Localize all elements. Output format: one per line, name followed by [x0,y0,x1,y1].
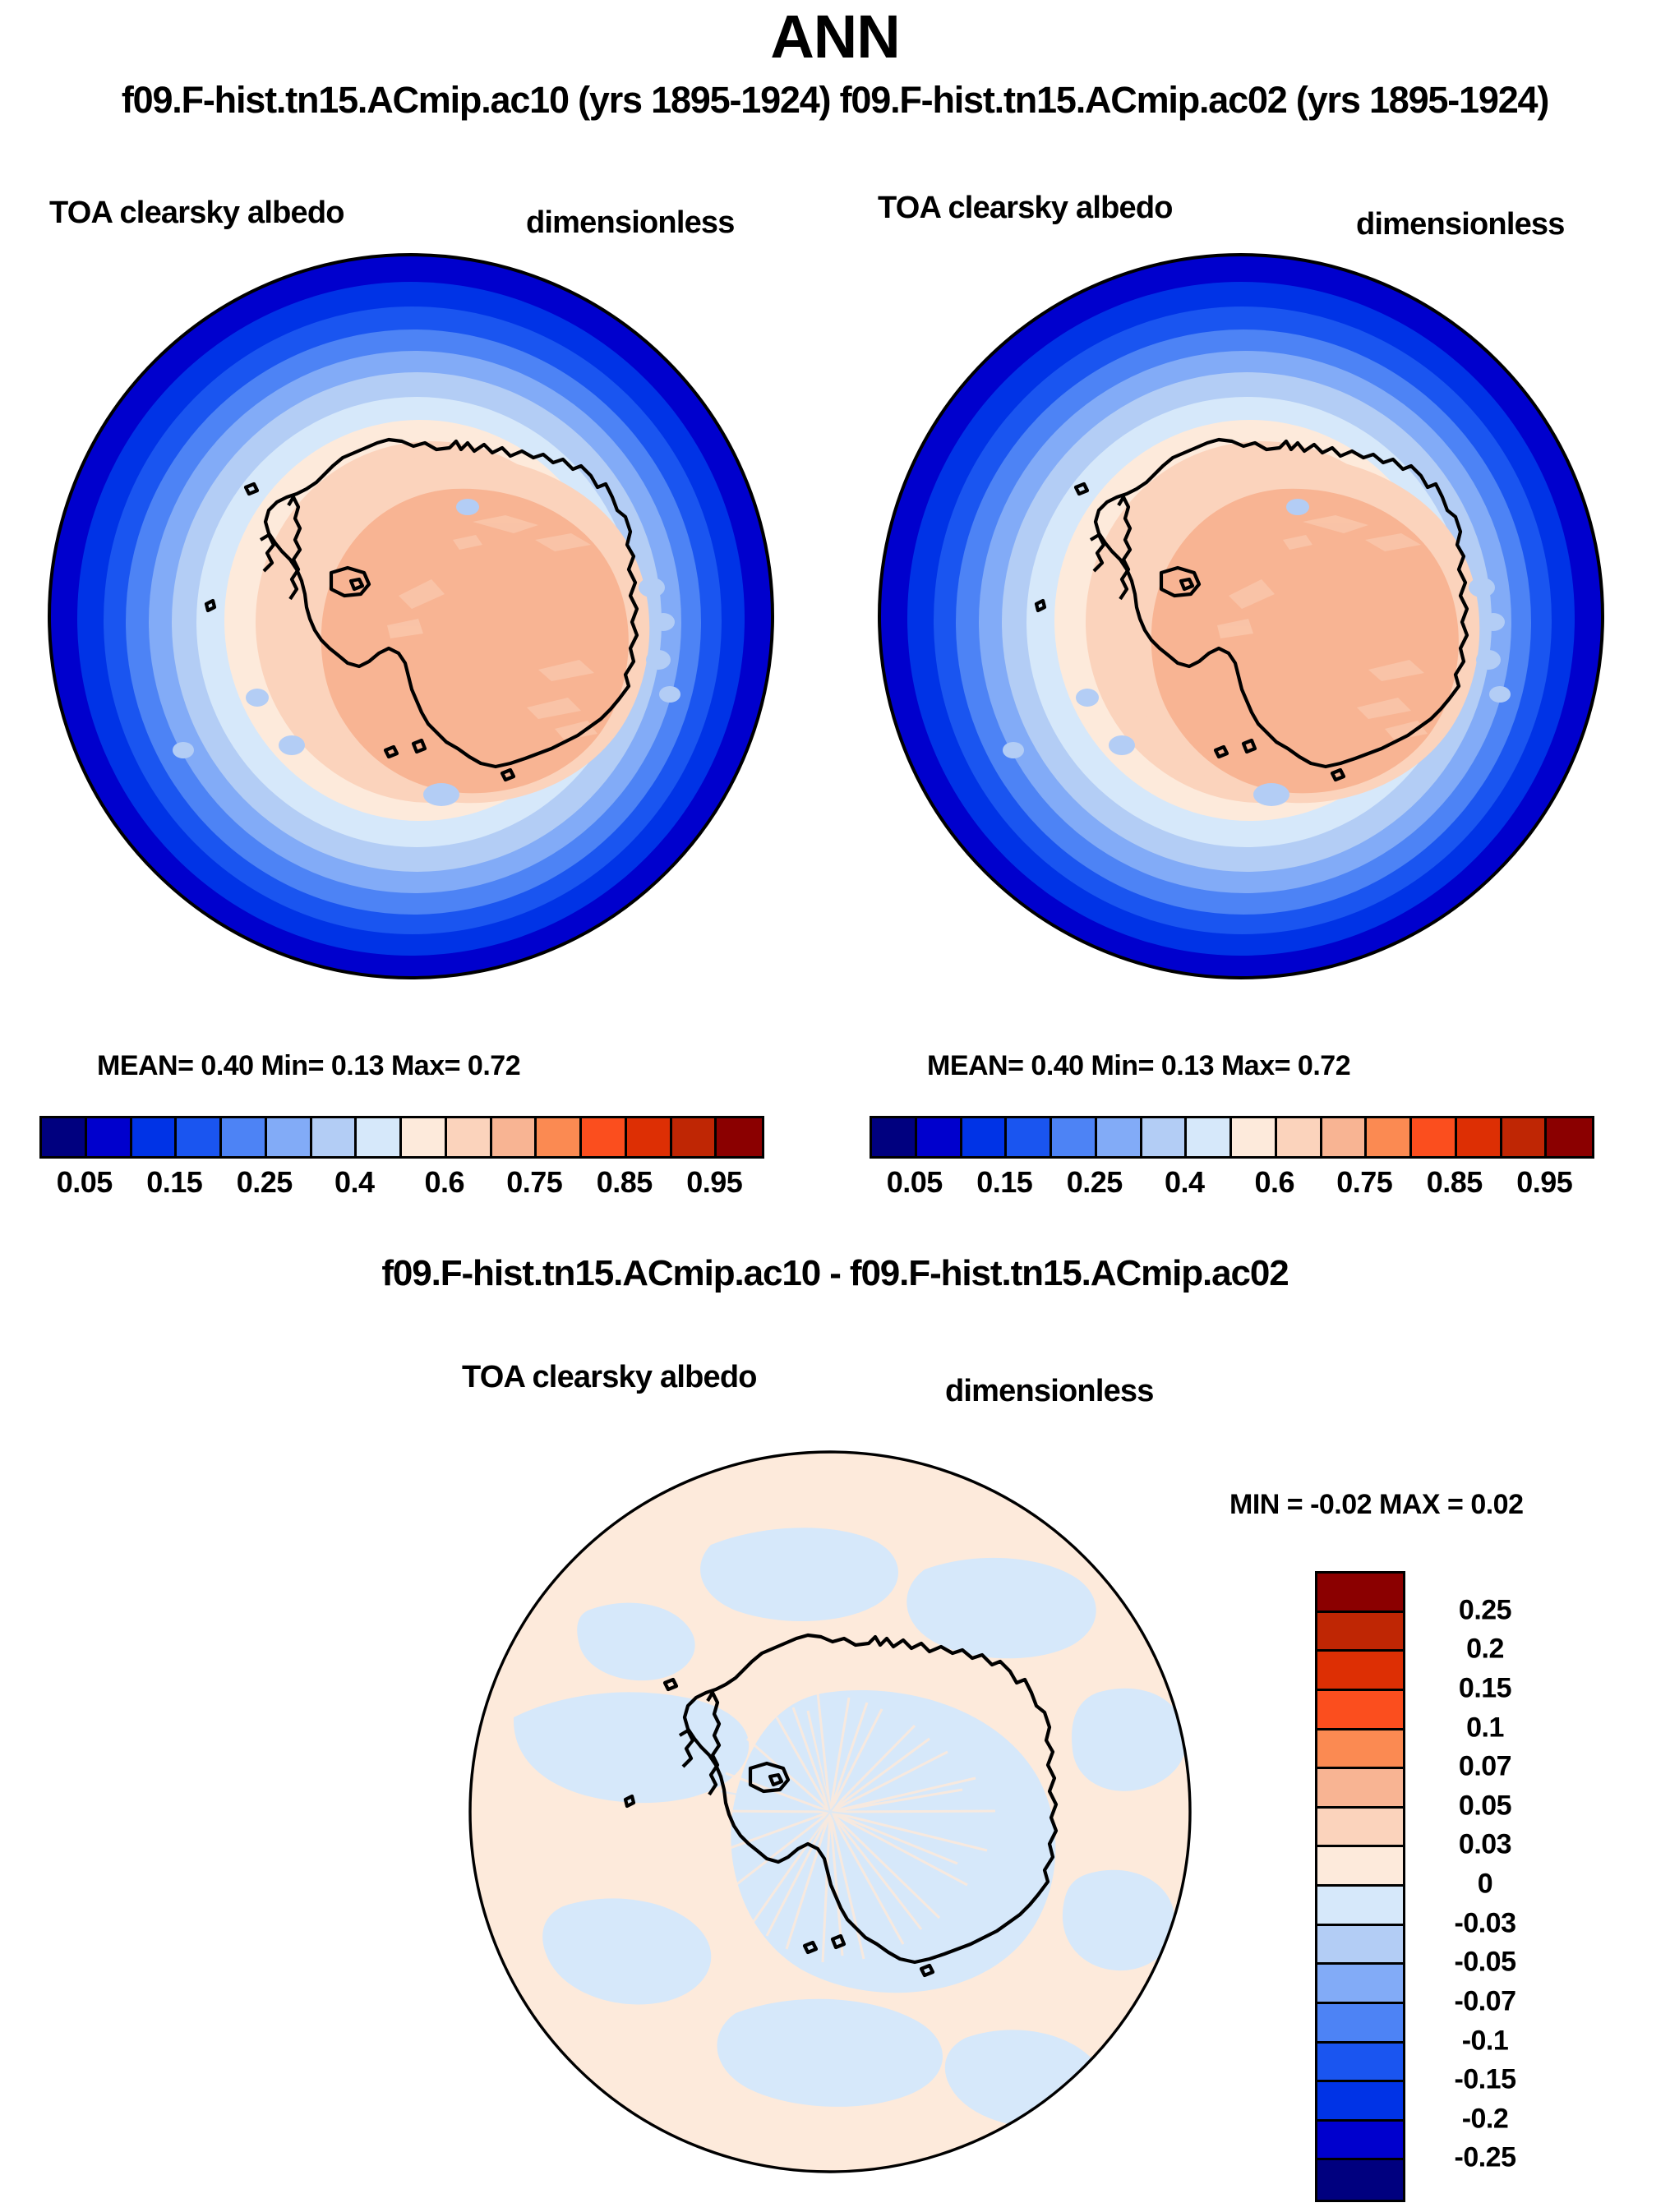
diff-colorbar-cell-12 [1317,2044,1403,2083]
colorbar-tick-4: 0.6 [1254,1165,1294,1200]
diff-colorbar-tick-7: 0 [1415,1869,1555,1901]
diff-colorbar-tick-0: 0.25 [1415,1594,1555,1626]
colorbar-tick-4: 0.6 [424,1165,464,1200]
colorbar-tick-7: 0.95 [1516,1165,1572,1200]
diff-colorbar-cell-7 [1317,1847,1403,1887]
diff-colorbar-tick-9: -0.05 [1415,1947,1555,1979]
left-panel-stats: MEAN= 0.40 Min= 0.13 Max= 0.72 [97,1050,520,1082]
colorbar-tick-3: 0.4 [334,1165,375,1200]
diff-colorbar-cell-9 [1317,1926,1403,1965]
diff-colorbar-cell-10 [1317,1965,1403,2004]
diff-colorbar-tick-6: 0.03 [1415,1829,1555,1861]
colorbar-cell-4 [222,1118,267,1156]
left-colorbar[interactable] [39,1116,764,1159]
colorbar-cell-11 [537,1118,582,1156]
diff-colorbar-cell-8 [1317,1887,1403,1926]
colorbar-tick-1: 0.15 [146,1165,202,1200]
diff-panel-variable-label: TOA clearsky albedo [462,1360,757,1395]
contour-band-0-70 [1151,489,1459,794]
diff-colorbar-tick-11: -0.1 [1415,2025,1555,2057]
colorbar-cell-9 [447,1118,492,1156]
colorbar-cell-8 [1232,1118,1277,1156]
colorbar-cell-2 [132,1118,178,1156]
colorbar-cell-0 [42,1118,87,1156]
colorbar-tick-0: 0.05 [57,1165,113,1200]
diff-panel-title: f09.F-hist.tn15.ACmip.ac10 - f09.F-hist.… [0,1253,1670,1294]
colorbar-tick-5: 0.75 [506,1165,562,1200]
colorbar-tick-3: 0.4 [1165,1165,1205,1200]
colorbar-cell-3 [1007,1118,1052,1156]
colorbar-tick-6: 0.85 [1427,1165,1483,1200]
right-colorbar[interactable] [870,1116,1594,1159]
colorbar-cell-13 [627,1118,672,1156]
diff-colorbar-ticks: 0.250.20.150.10.070.050.030-0.03-0.05-0.… [1415,1571,1629,2197]
colorbar-cell-14 [672,1118,717,1156]
diff-colorbar-tick-10: -0.07 [1415,1985,1555,2017]
colorbar-cell-6 [312,1118,358,1156]
colorbar-tick-2: 0.25 [237,1165,293,1200]
colorbar-cell-11 [1367,1118,1412,1156]
colorbar-cell-1 [917,1118,962,1156]
colorbar-cell-3 [177,1118,222,1156]
right-panel-stats: MEAN= 0.40 Min= 0.13 Max= 0.72 [927,1050,1350,1082]
diff-colorbar-cell-0 [1317,1574,1403,1613]
diff-colorbar-tick-5: 0.05 [1415,1790,1555,1822]
diff-colorbar-cell-1 [1317,1613,1403,1652]
left-panel-units-label: dimensionless [526,205,735,241]
colorbar-cell-5 [267,1118,312,1156]
diff-colorbar-tick-4: 0.07 [1415,1751,1555,1783]
right-polar-map[interactable] [875,251,1607,982]
diff-colorbar-cell-3 [1317,1691,1403,1730]
colorbar-cell-15 [717,1118,762,1156]
colorbar-tick-1: 0.15 [976,1165,1032,1200]
right-panel-units-label: dimensionless [1356,207,1565,242]
diff-colorbar-tick-12: -0.15 [1415,2064,1555,2096]
contour-band-0-70 [321,489,629,794]
colorbar-cell-5 [1097,1118,1142,1156]
colorbar-cell-15 [1547,1118,1592,1156]
diff-colorbar-cell-15 [1317,2160,1403,2200]
diff-colorbar-tick-2: 0.15 [1415,1672,1555,1704]
diff-colorbar-tick-3: 0.1 [1415,1712,1555,1744]
colorbar-cell-6 [1142,1118,1188,1156]
diff-colorbar-tick-13: -0.2 [1415,2103,1555,2135]
colorbar-cell-10 [1322,1118,1368,1156]
colorbar-cell-0 [872,1118,917,1156]
diff-colorbar-tick-8: -0.03 [1415,1907,1555,1939]
case-subtitle: f09.F-hist.tn15.ACmip.ac10 (yrs 1895-192… [0,79,1670,122]
page-title: ANN [0,2,1670,71]
colorbar-cell-12 [1412,1118,1457,1156]
diff-panel-stats: MIN = -0.02 MAX = 0.02 [1229,1489,1524,1521]
diff-colorbar-cell-6 [1317,1809,1403,1848]
colorbar-tick-5: 0.75 [1336,1165,1392,1200]
diff-polar-map[interactable] [464,1446,1196,2177]
diff-colorbar-tick-14: -0.25 [1415,2142,1555,2174]
colorbar-cell-9 [1277,1118,1322,1156]
colorbar-tick-6: 0.85 [597,1165,653,1200]
colorbar-cell-7 [1187,1118,1232,1156]
colorbar-cell-8 [402,1118,447,1156]
diff-colorbar-cell-13 [1317,2082,1403,2122]
colorbar-cell-14 [1502,1118,1548,1156]
colorbar-tick-0: 0.05 [887,1165,943,1200]
colorbar-tick-2: 0.25 [1067,1165,1123,1200]
diff-colorbar[interactable] [1315,1571,1405,2202]
diff-colorbar-cell-4 [1317,1730,1403,1770]
colorbar-cell-13 [1457,1118,1502,1156]
diff-colorbar-cell-11 [1317,2004,1403,2044]
diff-colorbar-cell-2 [1317,1652,1403,1691]
colorbar-cell-1 [87,1118,132,1156]
colorbar-cell-7 [357,1118,402,1156]
diff-colorbar-tick-1: 0.2 [1415,1634,1555,1666]
diff-panel-units-label: dimensionless [945,1374,1154,1409]
colorbar-cell-2 [962,1118,1008,1156]
right-panel-variable-label: TOA clearsky albedo [878,191,1173,226]
colorbar-cell-4 [1052,1118,1097,1156]
diff-colorbar-cell-14 [1317,2122,1403,2161]
colorbar-cell-12 [582,1118,627,1156]
left-panel-variable-label: TOA clearsky albedo [49,196,344,231]
diff-colorbar-cell-5 [1317,1769,1403,1809]
left-polar-map[interactable] [45,251,777,982]
colorbar-tick-7: 0.95 [686,1165,742,1200]
colorbar-cell-10 [492,1118,537,1156]
